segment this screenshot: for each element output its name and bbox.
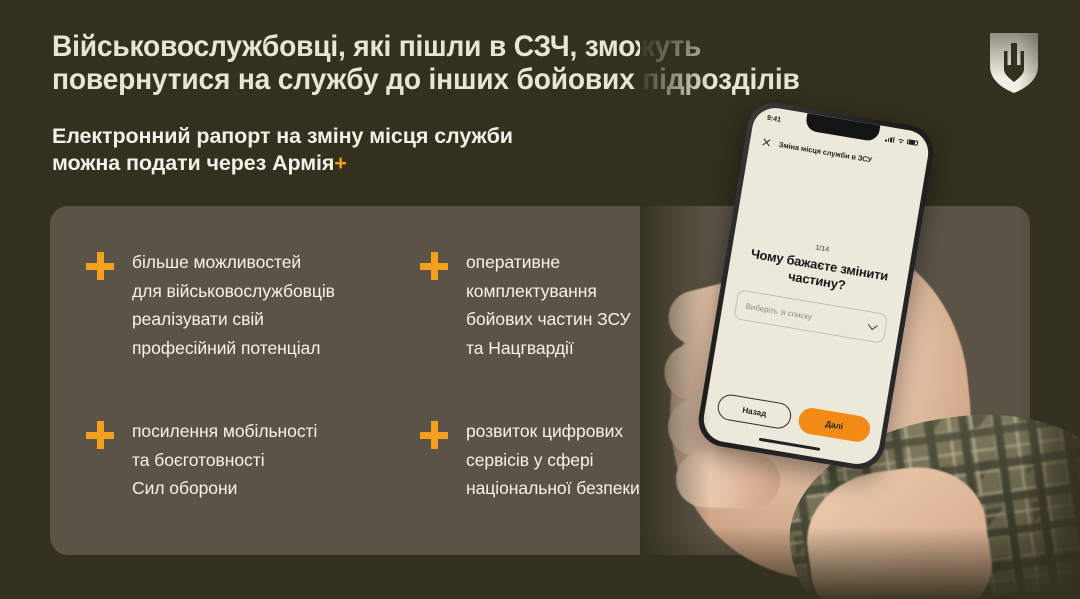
plus-icon (86, 252, 114, 280)
list-item-line: реалізувати свій (132, 305, 335, 334)
list-item-text: оперативне комплектування бойових частин… (466, 248, 631, 362)
infographic-poster: Військовослужбовці, які пішли в СЗЧ, змо… (0, 0, 1080, 599)
list-item-text: розвиток цифрових сервісів у сфері націо… (466, 417, 640, 503)
ukraine-mod-shield-tryzub-icon (990, 33, 1038, 93)
plus-icon (86, 421, 114, 449)
app-header: Зміна місця служби в ЗСУ (749, 128, 928, 179)
page-title: Військовослужбовці, які пішли в СЗЧ, змо… (52, 30, 912, 96)
armia-plus-mark: + (334, 151, 346, 175)
list-item-line: посилення мобільності (132, 417, 317, 446)
list-item-text: посилення мобільності та боєготовності С… (132, 417, 317, 503)
phone-notch (805, 113, 881, 142)
list-item-line: бойових частин ЗСУ (466, 305, 631, 334)
list-item-line: національної безпеки (466, 474, 640, 503)
list-item-line: та боєготовності (132, 446, 317, 475)
list-item: посилення мобільності та боєготовності С… (86, 417, 416, 503)
headline-line-2: повернутися на службу до інших бойових п… (52, 63, 912, 96)
subtitle-line-2: можна подати через Армія+ (52, 150, 513, 177)
list-item-text: більше можливостей для військовослужбовц… (132, 248, 335, 362)
list-item-line: для військовослужбовців (132, 277, 335, 306)
list-item-line: комплектування (466, 277, 631, 306)
subtitle-line-2-text: можна подати через Армія (52, 151, 334, 175)
close-x-icon[interactable] (761, 137, 771, 147)
list-item: розвиток цифрових сервісів у сфері націо… (420, 417, 750, 503)
list-item: більше можливостей для військовослужбовц… (86, 248, 416, 362)
phone-status-bar: 9:41 (753, 105, 932, 154)
plus-icon (420, 252, 448, 280)
benefits-list: більше можливостей для військовослужбовц… (50, 206, 1030, 555)
subtitle-line-1: Електронний рапорт на зміну місця служби (52, 123, 513, 150)
wifi-icon (896, 137, 905, 144)
list-item-line: більше можливостей (132, 248, 335, 277)
list-item: оперативне комплектування бойових частин… (420, 248, 750, 362)
plus-icon (420, 421, 448, 449)
page-subtitle: Електронний рапорт на зміну місця служби… (52, 123, 513, 177)
status-bar-time: 9:41 (766, 115, 781, 124)
app-header-title: Зміна місця служби в ЗСУ (778, 139, 873, 163)
benefits-card: більше можливостей для військовослужбовц… (50, 206, 1030, 555)
list-item-line: сервісів у сфері (466, 446, 640, 475)
headline-line-1: Військовослужбовці, які пішли в СЗЧ, змо… (52, 30, 912, 63)
signal-icon (885, 135, 894, 142)
list-item-line: оперативне (466, 248, 631, 277)
list-item-line: Сил оборони (132, 474, 317, 503)
list-item-line: розвиток цифрових (466, 417, 640, 446)
battery-icon (907, 139, 919, 146)
list-item-line: та Нацгвардії (466, 334, 631, 363)
list-item-line: професійний потенціал (132, 334, 335, 363)
status-bar-icons (885, 135, 918, 146)
